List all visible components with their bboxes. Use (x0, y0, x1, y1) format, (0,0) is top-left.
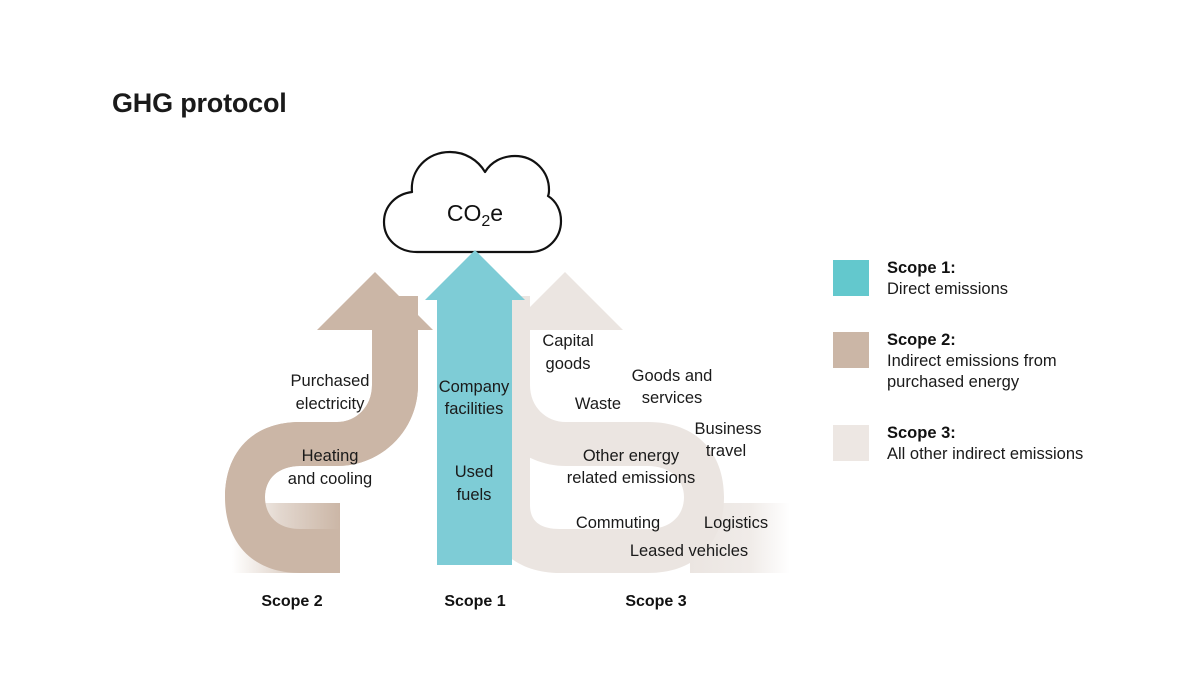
scope-3-footer-label: Scope 3 (625, 593, 686, 610)
scope-3-label-waste: Waste (575, 395, 621, 413)
scope-3-group: Capital goods Goods and services Waste B… (485, 272, 790, 573)
legend-text-scope-3: Scope 3: All other indirect emissions (887, 423, 1083, 465)
scope-2-shaft (372, 296, 418, 316)
legend-title-scope-3: Scope 3: (887, 423, 1083, 444)
scope-3-label-business: Business (695, 420, 762, 438)
legend-item-scope-3: Scope 3: All other indirect emissions (833, 423, 1133, 465)
legend-swatch-scope-2 (833, 332, 869, 368)
scope-3-label-capital: Capital (542, 332, 593, 350)
scope-3-label-goods: goods (546, 355, 591, 373)
legend-text-scope-2: Scope 2: Indirect emissions from purchas… (887, 330, 1127, 393)
cloud-co2e-label: CO2e (447, 200, 503, 230)
scope-2-label-purchased: Purchased (291, 372, 370, 390)
scope-2-label-heating: Heating (302, 447, 359, 465)
legend-title-scope-2: Scope 2: (887, 330, 1127, 351)
legend: Scope 1: Direct emissions Scope 2: Indir… (833, 258, 1133, 495)
scope-3-label-other-energy: Other energy (583, 447, 680, 465)
legend-swatch-scope-3 (833, 425, 869, 461)
scope-3-label-commuting: Commuting (576, 514, 660, 532)
scope-3-label-goods-and: Goods and (632, 367, 713, 385)
scope-3-label-services: services (642, 389, 703, 407)
legend-swatch-scope-1 (833, 260, 869, 296)
legend-item-scope-2: Scope 2: Indirect emissions from purchas… (833, 330, 1133, 393)
scope-1-label-used: Used (455, 463, 494, 481)
legend-desc-scope-1: Direct emissions (887, 279, 1008, 300)
scope-3-label-travel: travel (706, 442, 746, 460)
legend-title-scope-1: Scope 1: (887, 258, 1008, 279)
cloud-co2e-suffix: e (490, 200, 503, 226)
scope-1-footer-label: Scope 1 (444, 593, 505, 610)
legend-desc-scope-2: Indirect emissions from purchased energy (887, 351, 1127, 393)
scope-2-label-and-cooling: and cooling (288, 470, 372, 488)
infographic-page: GHG protocol Pur (0, 0, 1190, 696)
scope-2-footer-label: Scope 2 (261, 593, 322, 610)
scope-1-group: Company facilities Used fuels (425, 250, 525, 565)
scope-3-label-related-emissions: related emissions (567, 469, 695, 487)
scope-3-label-logistics: Logistics (704, 514, 768, 532)
cloud-co2e-main: CO (447, 200, 482, 226)
scope-2-group: Purchased electricity Heating and coolin… (225, 272, 433, 573)
scope-1-label-fuels: fuels (457, 486, 492, 504)
scope-1-label-facilities: facilities (445, 400, 504, 418)
legend-desc-scope-3: All other indirect emissions (887, 444, 1083, 465)
cloud-group: CO2e (384, 152, 561, 252)
cloud-co2e-sub: 2 (481, 213, 490, 230)
legend-item-scope-1: Scope 1: Direct emissions (833, 258, 1133, 300)
scope-2-label-electricity: electricity (296, 395, 366, 413)
scope-3-label-leased-vehicles: Leased vehicles (630, 542, 748, 560)
scope-1-label-company: Company (439, 378, 510, 396)
legend-text-scope-1: Scope 1: Direct emissions (887, 258, 1008, 300)
